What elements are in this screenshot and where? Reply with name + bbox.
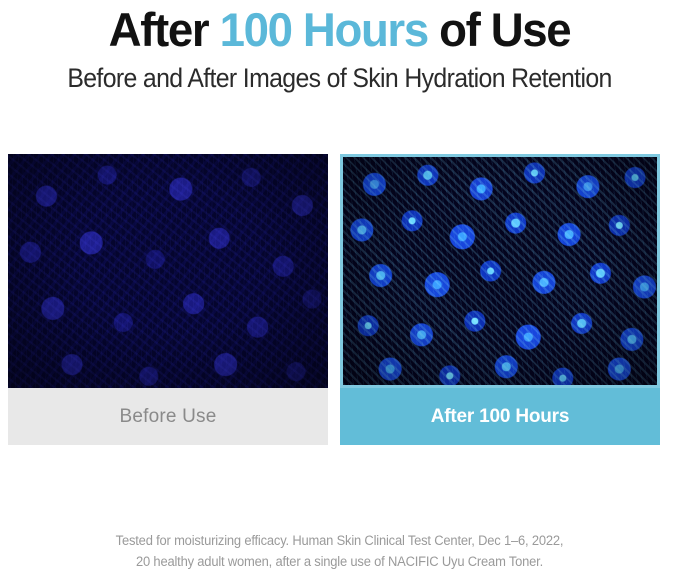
footnote-line-2: 20 healthy adult women, after a single u… [14, 551, 666, 572]
before-panel: Before Use [8, 154, 328, 445]
page-subtitle: Before and After Images of Skin Hydratio… [27, 62, 652, 94]
headline-accent: 100 Hours [220, 3, 428, 56]
footnote-line-1: Tested for moisturizing efficacy. Human … [14, 530, 666, 551]
footnote-disclaimer: Tested for moisturizing efficacy. Human … [14, 530, 666, 572]
after-panel: After 100 Hours [340, 154, 660, 445]
before-image-vignette [8, 154, 328, 388]
after-image-vignette [343, 157, 657, 385]
infographic-page: After 100 Hours of Use Before and After … [0, 0, 679, 576]
after-microscopy-image [340, 154, 660, 388]
headline-text-after: of Use [428, 3, 570, 56]
before-caption-bar: Before Use [8, 388, 328, 445]
after-caption-label: After 100 Hours [431, 406, 570, 428]
before-caption-label: Before Use [119, 406, 216, 428]
page-headline: After 100 Hours of Use [10, 4, 669, 56]
before-after-comparison: Before Use After 100 Hours [8, 154, 670, 445]
before-microscopy-image [8, 154, 328, 388]
after-caption-bar: After 100 Hours [340, 388, 660, 445]
headline-text-before: After [109, 3, 220, 56]
